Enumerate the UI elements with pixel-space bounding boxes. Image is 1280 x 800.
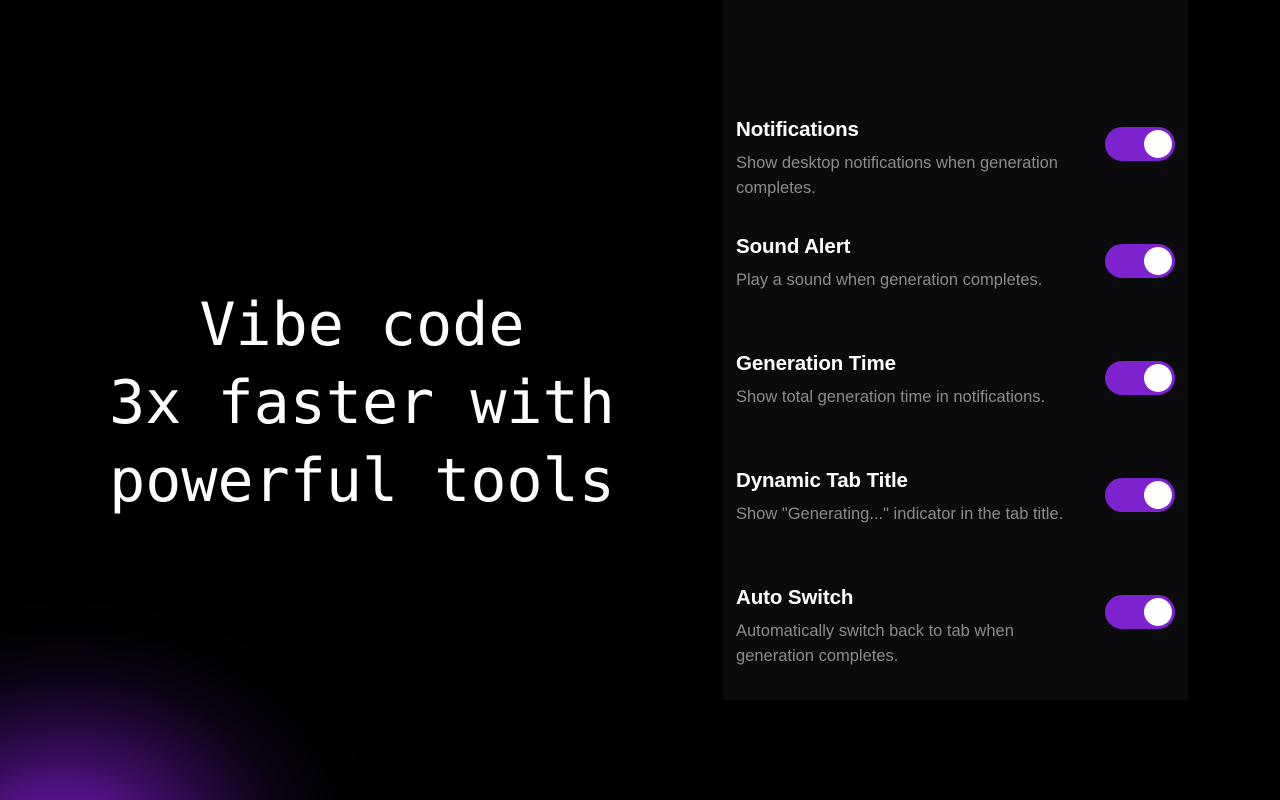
toggle-generation-time[interactable] <box>1105 361 1175 395</box>
setting-row-dynamic-tab-title: Dynamic Tab Title Show "Generating..." i… <box>723 469 1188 586</box>
toggle-knob-auto-switch <box>1144 598 1172 626</box>
toggle-sound-alert[interactable] <box>1105 244 1175 278</box>
setting-row-sound-alert: Sound Alert Play a sound when generation… <box>723 235 1188 352</box>
toggle-notifications[interactable] <box>1105 127 1175 161</box>
setting-row-notifications: Notifications Show desktop notifications… <box>723 118 1188 235</box>
setting-description-auto-switch: Automatically switch back to tab when ge… <box>736 619 1066 668</box>
promo-screen: Vibe code 3x faster with powerful tools … <box>0 0 1280 800</box>
hero-headline-line-2: 3x faster with <box>0 364 724 442</box>
setting-text-dynamic-tab-title: Dynamic Tab Title Show "Generating..." i… <box>736 469 1088 527</box>
hero-headline-line-1: Vibe code <box>0 286 724 364</box>
toggle-knob-dynamic-tab-title <box>1144 481 1172 509</box>
setting-description-dynamic-tab-title: Show "Generating..." indicator in the ta… <box>736 502 1066 527</box>
setting-text-notifications: Notifications Show desktop notifications… <box>736 118 1088 200</box>
hero-headline-line-3: powerful tools <box>0 442 724 520</box>
setting-text-generation-time: Generation Time Show total generation ti… <box>736 352 1088 410</box>
toggle-knob-sound-alert <box>1144 247 1172 275</box>
setting-row-auto-switch: Auto Switch Automatically switch back to… <box>723 586 1188 703</box>
setting-description-sound-alert: Play a sound when generation completes. <box>736 268 1066 293</box>
hero-headline: Vibe code 3x faster with powerful tools <box>0 286 724 520</box>
setting-description-notifications: Show desktop notifications when generati… <box>736 151 1066 200</box>
setting-text-auto-switch: Auto Switch Automatically switch back to… <box>736 586 1088 668</box>
setting-title-generation-time: Generation Time <box>736 352 1088 376</box>
toggle-knob-notifications <box>1144 130 1172 158</box>
toggle-knob-generation-time <box>1144 364 1172 392</box>
setting-title-auto-switch: Auto Switch <box>736 586 1088 610</box>
setting-title-notifications: Notifications <box>736 118 1088 142</box>
toggle-dynamic-tab-title[interactable] <box>1105 478 1175 512</box>
settings-list: Notifications Show desktop notifications… <box>723 118 1188 703</box>
setting-title-dynamic-tab-title: Dynamic Tab Title <box>736 469 1088 493</box>
setting-row-generation-time: Generation Time Show total generation ti… <box>723 352 1188 469</box>
toggle-auto-switch[interactable] <box>1105 595 1175 629</box>
setting-description-generation-time: Show total generation time in notificati… <box>736 385 1066 410</box>
setting-title-sound-alert: Sound Alert <box>736 235 1088 259</box>
setting-text-sound-alert: Sound Alert Play a sound when generation… <box>736 235 1088 293</box>
